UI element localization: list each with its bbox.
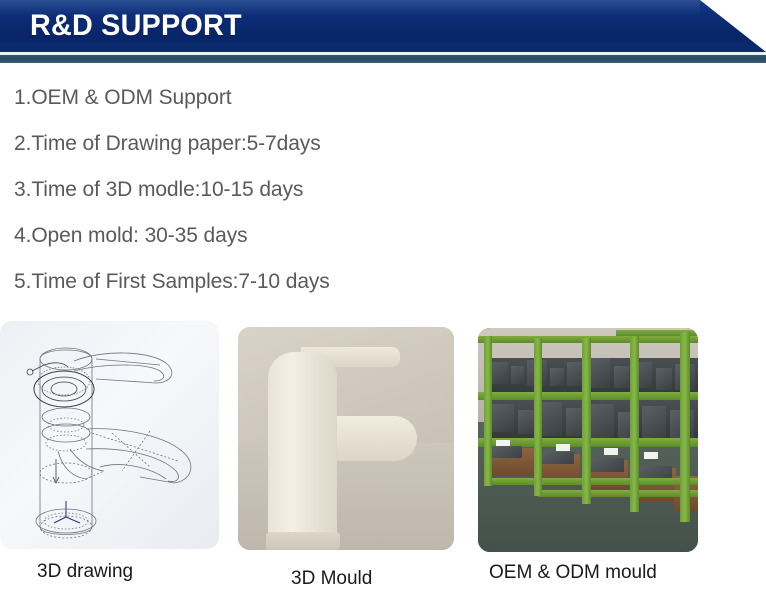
gallery-image-3d-mould: [238, 327, 454, 550]
cad-wireframe-faucet-icon: [0, 321, 219, 549]
caption-oem-odm-mould: OEM & ODM mould: [489, 562, 657, 584]
gallery-image-3d-drawing: [0, 321, 219, 549]
caption-3d-drawing: 3D drawing: [37, 561, 133, 583]
image-gallery: [0, 0, 766, 598]
rd-support-slide: R&D SUPPORT 1.OEM & ODM Support 2.Time o…: [0, 0, 766, 598]
gallery-image-oem-odm-mould: [478, 328, 698, 552]
warehouse-mould-rack-icon: [478, 328, 698, 552]
white-prototype-faucet-icon: [238, 327, 454, 550]
caption-3d-mould: 3D Mould: [291, 568, 372, 590]
